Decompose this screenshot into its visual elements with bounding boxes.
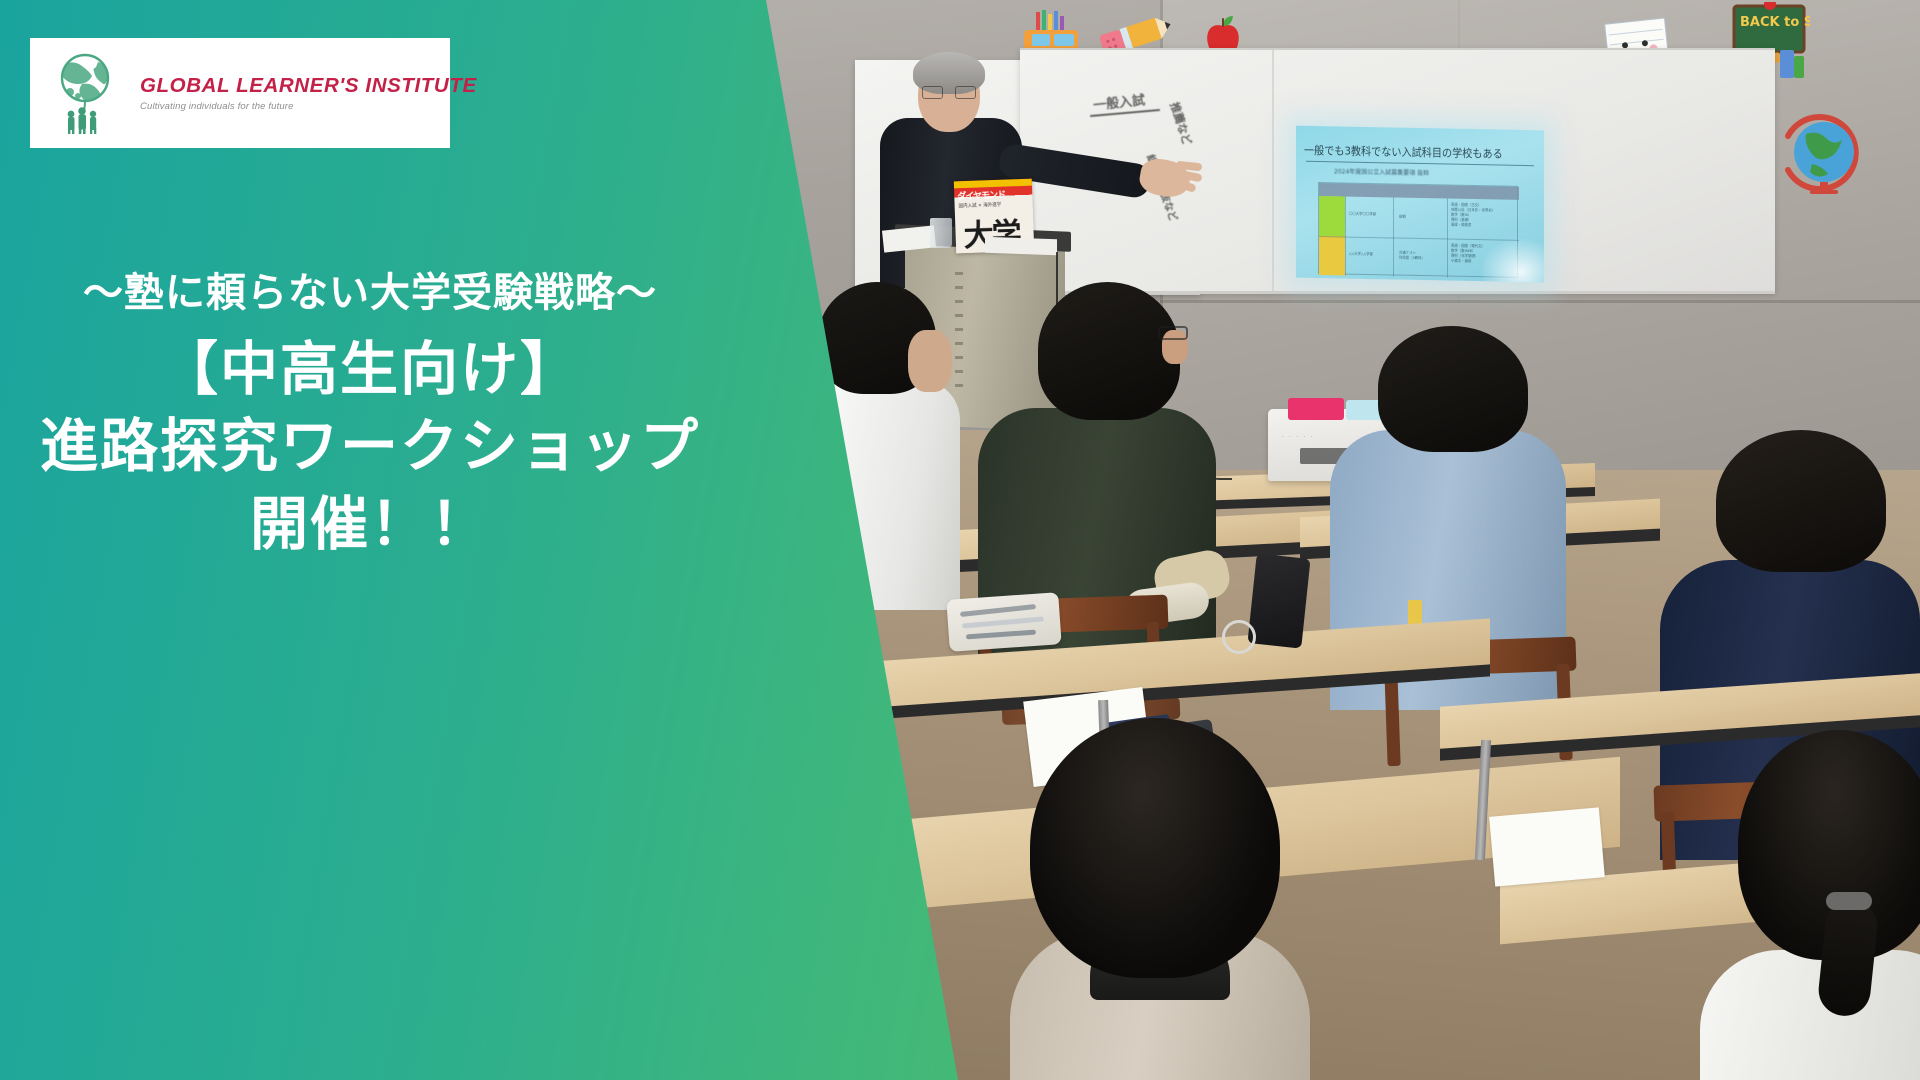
headline-line-1: 【中高生向け】 bbox=[0, 332, 740, 407]
wall-seam bbox=[1160, 300, 1920, 303]
podium-holes bbox=[955, 272, 963, 392]
slide-table-header bbox=[1319, 183, 1519, 200]
projected-slide: 一般でも3教科でない入試科目の学校もある 2024年度国公立入試募集要項 抜粋 … bbox=[1296, 126, 1544, 283]
slide-glare bbox=[1478, 235, 1544, 282]
printer-pink-lid bbox=[1288, 398, 1344, 420]
slide-cell-detail-1: 英語・国語（古文） 地歴公民（日本史・世界史） 数学（数ⅠA） 理科（基礎） 面… bbox=[1451, 203, 1495, 229]
magazine-brand: ダイヤモンド bbox=[957, 188, 1005, 203]
magazine-band bbox=[954, 179, 1032, 189]
slide-cell-name-2: △△大学△△学部 bbox=[1349, 252, 1373, 257]
slide-cell-name-1: 〇〇大学〇〇学部 bbox=[1349, 212, 1376, 217]
podium-handout bbox=[985, 237, 1057, 256]
hair-tie bbox=[1826, 892, 1872, 910]
deco-text-back: BACK to SCHOOL bbox=[1740, 15, 1810, 30]
student-glasses bbox=[1158, 326, 1188, 340]
logo-tagline: Cultivating individuals for the future bbox=[140, 101, 477, 112]
hanging-bag bbox=[1247, 553, 1310, 648]
whiteboard-frame bbox=[1272, 48, 1274, 294]
paper-sheet bbox=[1489, 807, 1605, 886]
headline-block: 〜塾に頼らない大学受験戦略〜 【中高生向け】 進路探究ワークショップ 開催！！ bbox=[0, 268, 740, 562]
headline-line-3: 開催！！ bbox=[0, 487, 740, 562]
slide-cell-type-1: 前期 bbox=[1399, 215, 1406, 220]
logo-title: GLOBAL LEARNER'S INSTITUTE bbox=[140, 74, 477, 98]
bag-hook bbox=[1222, 620, 1256, 654]
slide-subtitle: 2024年度国公立入試募集要項 抜粋 bbox=[1334, 166, 1429, 177]
globe-sticker bbox=[1782, 100, 1864, 194]
slide-row-mark-1 bbox=[1319, 196, 1345, 236]
printer-label: · · · · · bbox=[1282, 434, 1314, 440]
globe-with-children-logo-icon bbox=[52, 52, 130, 134]
magazine-subtitle: 国内入試 × 海外進学 bbox=[959, 202, 1002, 209]
promo-banner: A + BACK to SCHOOL 一般入試 bbox=[0, 0, 1920, 1080]
presenter-glasses bbox=[955, 86, 976, 99]
slide-cell-type-2: 共通テスト 利用型（3教科） bbox=[1399, 251, 1425, 261]
logo-text-block: GLOBAL LEARNER'S INSTITUTE Cultivating i… bbox=[140, 74, 477, 112]
podium-cup bbox=[930, 218, 952, 248]
whiteboard-frame bbox=[1020, 48, 1775, 50]
slide-rule bbox=[1306, 161, 1534, 166]
slide-title: 一般でも3教科でない入試科目の学校もある bbox=[1304, 142, 1519, 162]
headline-line-2: 進路探究ワークショップ bbox=[0, 409, 740, 484]
presenter-glasses bbox=[922, 86, 943, 99]
headline-subtitle: 〜塾に頼らない大学受験戦略〜 bbox=[0, 268, 740, 318]
institute-logo[interactable]: GLOBAL LEARNER'S INSTITUTE Cultivating i… bbox=[30, 38, 450, 148]
slide-row-mark-2 bbox=[1319, 236, 1345, 275]
